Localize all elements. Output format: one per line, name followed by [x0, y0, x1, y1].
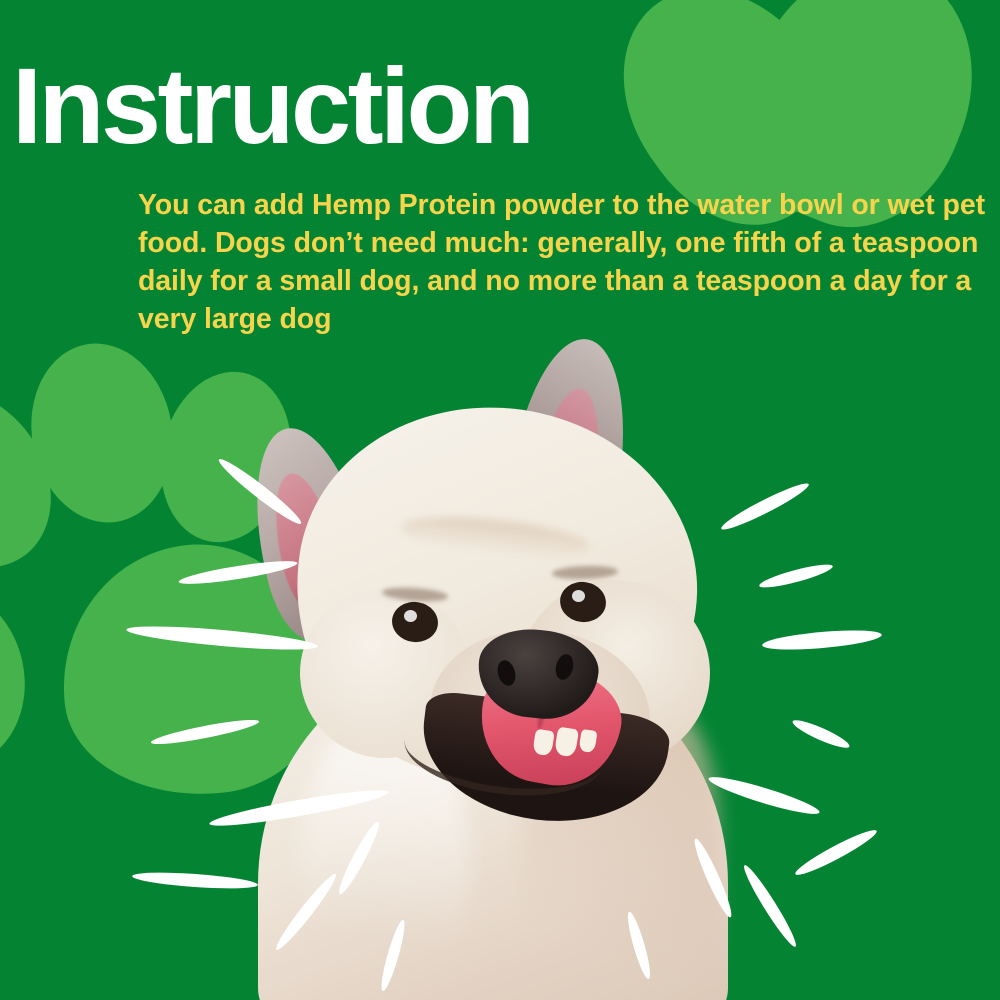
page-title: Instruction [12, 52, 531, 160]
instruction-poster: Instruction You can add Hemp Protein pow… [0, 0, 1000, 1000]
dog-eye-left-glint [404, 610, 417, 622]
dog-photo-alt: White French Bulldog with head tilted, t… [0, 0, 1, 1]
dog-eye-right-glint [572, 590, 585, 602]
dog-photo [0, 330, 1000, 1000]
instruction-body-text: You can add Hemp Protein powder to the w… [138, 186, 986, 338]
